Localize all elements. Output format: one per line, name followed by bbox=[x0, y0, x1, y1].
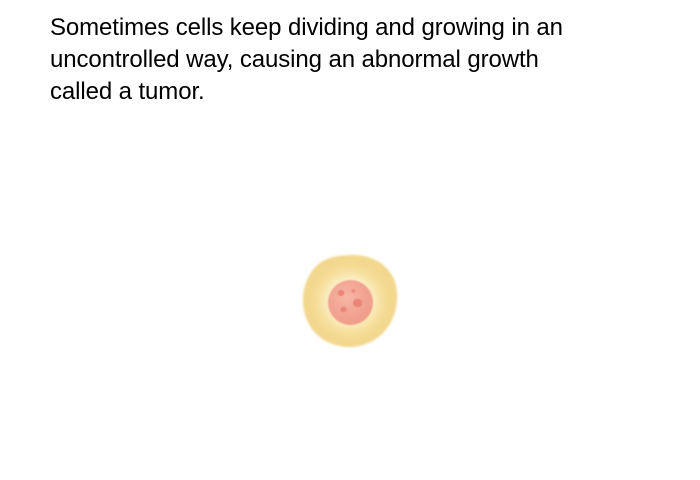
nucleus-shape bbox=[328, 280, 373, 325]
nucleolus-upper-left bbox=[338, 290, 345, 296]
caption-text: Sometimes cells keep dividing and growin… bbox=[50, 12, 650, 108]
cell-diagram-image bbox=[296, 246, 406, 358]
caption-line-2: uncontrolled way, causing an abnormal gr… bbox=[50, 44, 650, 76]
caption-line-3: called a tumor. bbox=[50, 76, 650, 108]
slide-canvas: Sometimes cells keep dividing and growin… bbox=[0, 0, 700, 480]
nucleolus-lower-left bbox=[340, 307, 346, 313]
cell-svg bbox=[296, 246, 406, 358]
nucleolus-upper-mid bbox=[352, 289, 356, 292]
nucleolus-center-right bbox=[353, 299, 362, 307]
caption-line-1: Sometimes cells keep dividing and growin… bbox=[50, 12, 650, 44]
